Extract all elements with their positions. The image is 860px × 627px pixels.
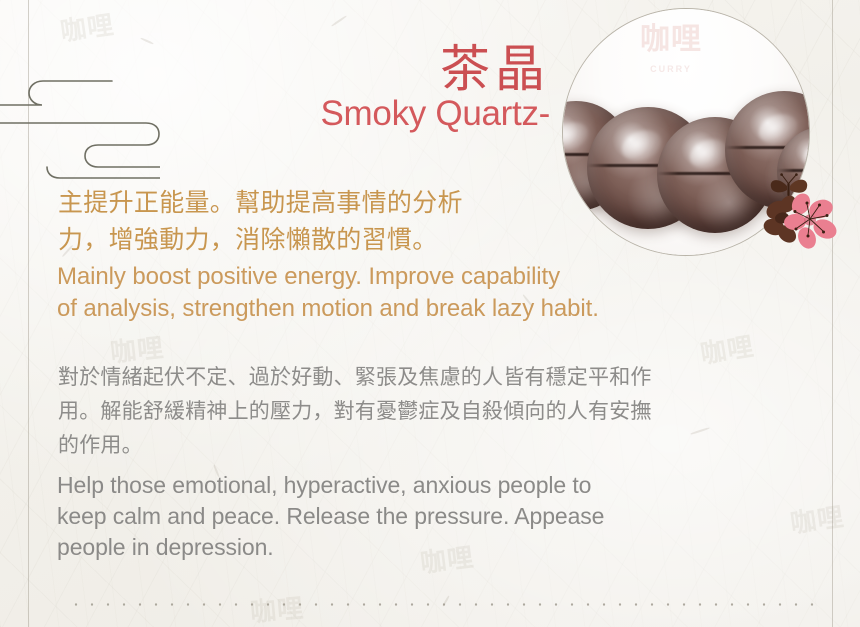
title-english: Smoky Quartz- <box>300 96 550 133</box>
body-en-line: people in depression. <box>57 532 797 563</box>
paper-speck <box>331 15 347 27</box>
vertical-rule-left <box>28 0 29 627</box>
body-en-line: keep calm and peace. Release the pressur… <box>57 501 797 532</box>
body-paragraph-chinese: 對於情緒起伏不定、過於好動、緊張及焦慮的人皆有穩定平和作 用。解能舒緩精神上的壓… <box>58 360 818 462</box>
lead-en-line: of analysis, strengthen motion and break… <box>57 293 717 325</box>
body-cn-line: 用。解能舒緩精神上的壓力，對有憂鬱症及自殺傾向的人有安撫 <box>58 394 818 428</box>
photo-watermark-main: 咖哩 <box>601 25 741 55</box>
body-cn-line: 對於情緒起伏不定、過於好動、緊張及焦慮的人皆有穩定平和作 <box>58 360 818 394</box>
background-watermark: 咖哩 <box>248 588 305 627</box>
chinese-cloud-meander-icon <box>0 62 160 180</box>
product-info-card: 咖哩 咖哩 咖哩 咖哩 咖哩 咖哩 咖哩 CURRY <box>0 0 860 627</box>
page-title: 茶晶 Smoky Quartz- <box>300 44 550 133</box>
paper-speck <box>140 37 154 45</box>
bead-photo: 咖哩 CURRY <box>563 9 809 255</box>
vertical-rule-right <box>832 0 833 627</box>
lead-cn-line: 力，增強動力，消除懶散的習慣。 <box>58 221 578 258</box>
background-watermark: 咖哩 <box>58 4 117 48</box>
body-paragraph-english: Help those emotional, hyperactive, anxio… <box>57 470 797 563</box>
lead-cn-line: 主提升正能量。幫助提高事情的分析 <box>58 184 578 221</box>
photo-watermark: 咖哩 CURRY <box>601 25 741 74</box>
paper-speck <box>442 595 450 606</box>
product-photo-circle: 咖哩 CURRY <box>562 8 810 256</box>
photo-watermark-sub: CURRY <box>601 64 741 74</box>
lead-en-line: Mainly boost positive energy. Improve ca… <box>57 261 717 293</box>
lead-paragraph-chinese: 主提升正能量。幫助提高事情的分析 力，增強動力，消除懶散的習慣。 <box>58 184 578 258</box>
body-cn-line: 的作用。 <box>58 428 818 462</box>
lead-paragraph-english: Mainly boost positive energy. Improve ca… <box>57 261 717 325</box>
dotted-divider <box>68 603 820 606</box>
body-en-line: Help those emotional, hyperactive, anxio… <box>57 470 797 501</box>
title-chinese: 茶晶 <box>300 44 550 94</box>
